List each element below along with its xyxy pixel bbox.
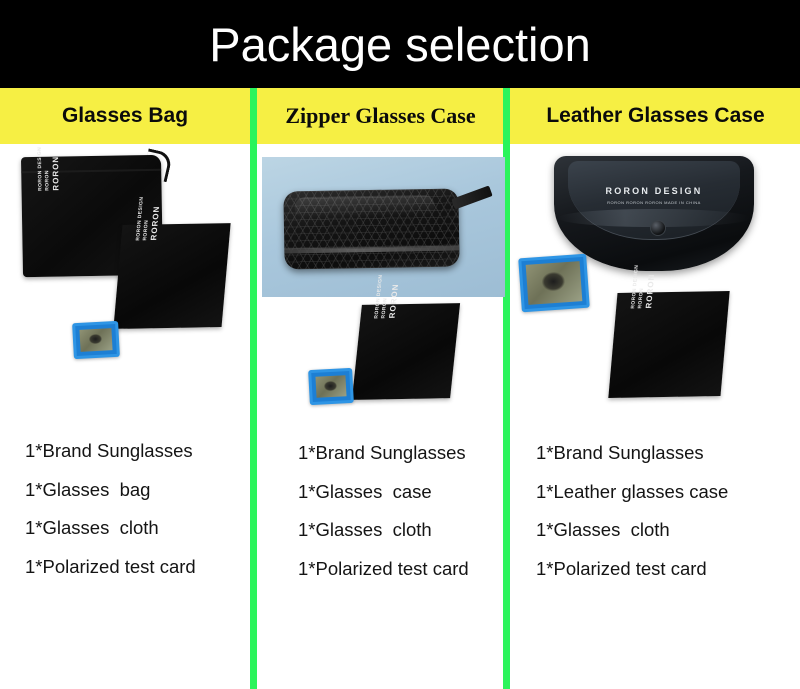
test-card-lens-window: [315, 375, 346, 398]
test-card-lens-window: [79, 328, 112, 352]
list-item: 1*Leather glasses case: [510, 483, 800, 502]
contents-list-glasses-bag: 1*Brand Sunglasses 1*Glasses bag 1*Glass…: [0, 442, 250, 596]
column-zipper-glasses-case: RORON DESIGN RORON RORON 1*Brand Sunglas…: [257, 144, 503, 689]
brand-design-text: RORON DESIGN: [554, 186, 754, 196]
column-divider-left: [250, 88, 257, 689]
column-leather-glasses-case: RORON DESIGN RORON RORON RORON MADE IN C…: [510, 144, 800, 689]
column-header-glasses-bag: Glasses Bag: [0, 88, 250, 144]
column-header-label: Glasses Bag: [62, 104, 188, 128]
brand-small-text: RORON RORON RORON MADE IN CHINA: [554, 200, 754, 206]
list-item: 1*Polarized test card: [510, 560, 800, 579]
product-photo-zipper-case: RORON DESIGN RORON RORON: [257, 144, 503, 434]
list-item: 1*Glasses cloth: [0, 519, 250, 538]
list-item: 1*Brand Sunglasses: [257, 444, 503, 463]
brand-design-text: RORON DESIGN: [37, 147, 45, 191]
list-item: 1*Glasses bag: [0, 481, 250, 500]
polarized-test-card-image: [72, 321, 120, 359]
title-band: Package selection: [0, 0, 800, 88]
hexagon-zipper-case-image: [283, 188, 459, 269]
list-item: 1*Brand Sunglasses: [510, 444, 800, 463]
column-header-zipper-glasses-case: Zipper Glasses Case: [256, 88, 505, 144]
polarized-test-card-image: [308, 368, 354, 405]
brand-stamp: RORON DESIGN RORON RORON: [37, 147, 62, 191]
column-header-band: Glasses Bag Zipper Glasses Case Leather …: [0, 88, 800, 144]
column-header-label: Zipper Glasses Case: [285, 103, 475, 129]
contents-list-leather-case: 1*Brand Sunglasses 1*Leather glasses cas…: [510, 444, 800, 598]
polarized-test-card-image: [518, 254, 590, 313]
column-header-label: Leather Glasses Case: [546, 104, 764, 128]
product-photo-leather-case: RORON DESIGN RORON RORON RORON MADE IN C…: [510, 144, 800, 434]
case-highlight: [294, 195, 434, 218]
cleaning-cloth-image: RORON DESIGN RORON RORON: [352, 303, 460, 400]
list-item: 1*Brand Sunglasses: [0, 442, 250, 461]
product-photo-glasses-bag: RORON DESIGN RORON RORON RORON DESIGN RO…: [0, 144, 250, 434]
cleaning-cloth-image: RORON DESIGN RORON RORON: [113, 223, 230, 329]
list-item: 1*Glasses cloth: [510, 521, 800, 540]
brand-stamp: RORON DESIGN RORON RORON: [135, 196, 163, 240]
brand-stamp: RORON DESIGN RORON RORON: [630, 264, 658, 308]
list-item: 1*Glasses cloth: [257, 521, 503, 540]
column-header-leather-glasses-case: Leather Glasses Case: [511, 88, 800, 144]
contents-list-zipper-case: 1*Brand Sunglasses 1*Glasses case 1*Glas…: [257, 444, 503, 598]
brand-stamp: RORON DESIGN RORON RORON: [373, 274, 402, 318]
list-item: 1*Polarized test card: [257, 560, 503, 579]
list-item: 1*Glasses case: [257, 483, 503, 502]
brand-name-text: RORON: [50, 147, 62, 191]
column-glasses-bag: RORON DESIGN RORON RORON RORON DESIGN RO…: [0, 144, 250, 689]
page-title: Package selection: [209, 21, 590, 68]
list-item: 1*Polarized test card: [0, 558, 250, 577]
test-card-lens-window: [526, 261, 583, 305]
cleaning-cloth-image: RORON DESIGN RORON RORON: [608, 291, 729, 398]
